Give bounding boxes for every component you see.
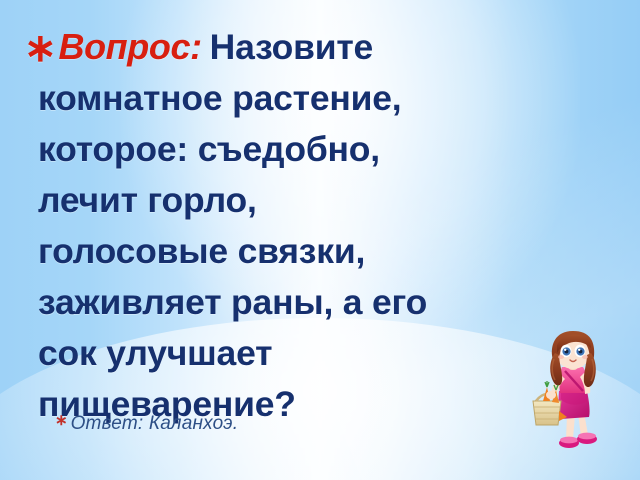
question-line-1: ∗Вопрос:Назовите bbox=[24, 21, 620, 73]
question-line-4: лечит горло, bbox=[24, 175, 620, 226]
question-line-2: комнатное растение, bbox=[24, 73, 620, 124]
answer-text: Ответ: Каланхоэ. bbox=[71, 413, 239, 434]
slide-canvas: ∗Вопрос:Назовите комнатное растение, кот… bbox=[0, 0, 640, 480]
question-line-3-text: которое: съедобно, bbox=[38, 129, 380, 169]
question-line-6: заживляет раны, а его bbox=[24, 277, 620, 328]
asterisk-bullet-icon: ∗ bbox=[24, 29, 56, 68]
question-line-1-text: Назовите bbox=[210, 27, 373, 67]
question-line-5: голосовые связки, bbox=[24, 226, 620, 277]
question-line-7-text: сок улучшает bbox=[38, 333, 272, 373]
question-line-4-text: лечит горло, bbox=[38, 180, 257, 220]
answer-block: ∗Ответ: Каланхоэ. bbox=[55, 411, 238, 435]
question-line-3: которое: съедобно, bbox=[24, 124, 620, 175]
question-label: Вопрос: bbox=[58, 26, 209, 67]
cartoon-girl-with-basket-illustration bbox=[521, 329, 617, 459]
answer-asterisk-bullet-icon: ∗ bbox=[55, 411, 68, 429]
question-line-6-text: заживляет раны, а его bbox=[38, 282, 427, 322]
question-line-2-text: комнатное растение, bbox=[38, 78, 401, 118]
question-line-5-text: голосовые связки, bbox=[38, 231, 365, 271]
